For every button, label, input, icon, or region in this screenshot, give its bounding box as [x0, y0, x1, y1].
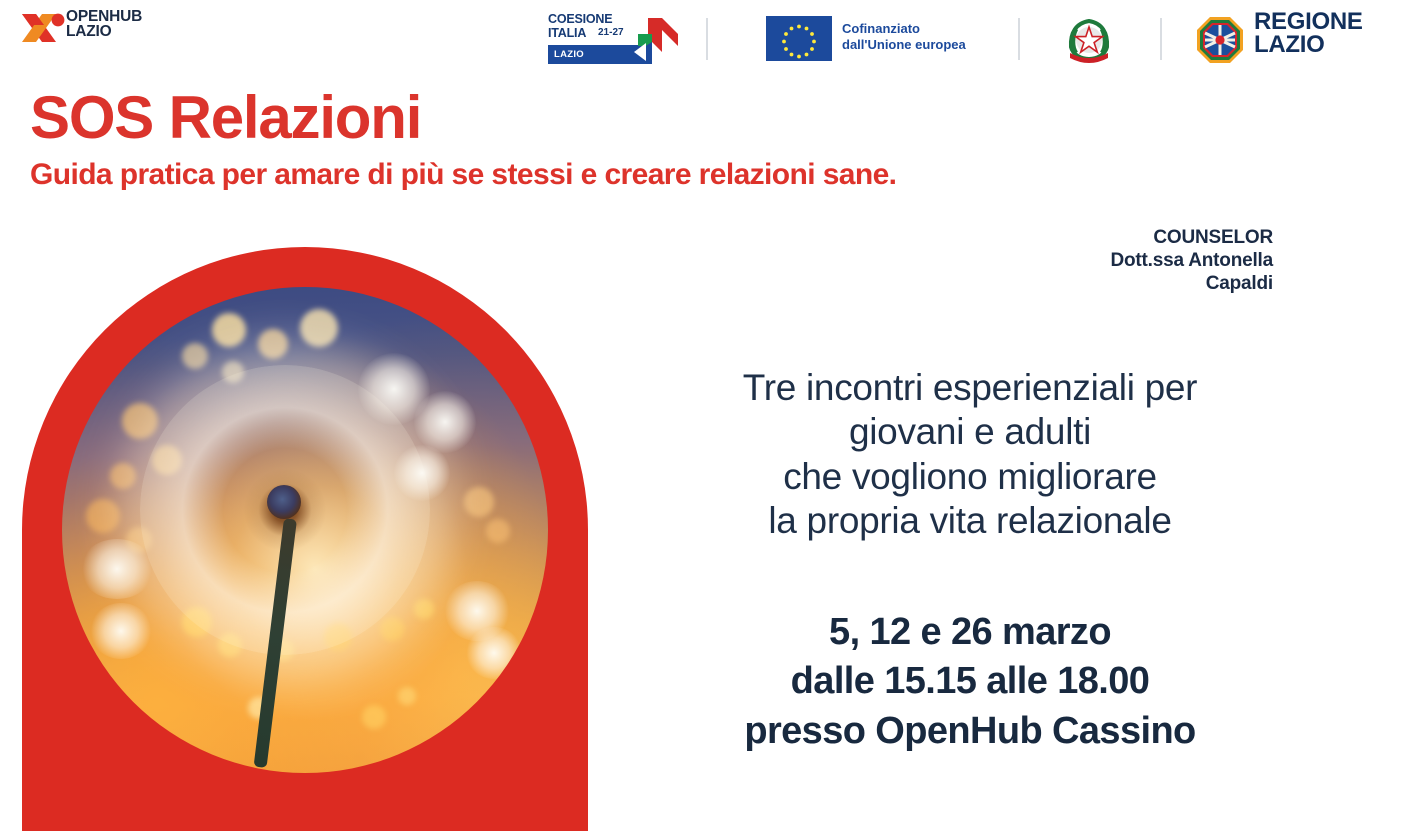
eu-cofinancing-logo: Cofinanziato dall'Unione europea — [766, 16, 981, 62]
dandelion-photo — [62, 287, 548, 773]
dandelion-artwork — [22, 247, 588, 831]
logo-divider-2 — [1018, 18, 1020, 60]
regione-lazio-line2: LAZIO — [1254, 34, 1363, 57]
page-subtitle: Guida pratica per amare di più se stessi… — [30, 158, 896, 193]
eu-flag-icon — [766, 16, 832, 61]
logo-header-bar: OPENHUB LAZIO COESIONE ITALIA 21-27 LAZI… — [0, 0, 1414, 78]
coesione-line1: COESIONE — [548, 12, 612, 26]
italy-flag-arrow-icon — [628, 12, 678, 66]
eu-logo-line1: Cofinanziato — [842, 21, 966, 37]
page-title: SOS Relazioni — [30, 88, 421, 148]
regione-lazio-logo-text: REGIONE LAZIO — [1254, 11, 1363, 57]
dandelion-core — [267, 485, 301, 519]
eu-logo-text: Cofinanziato dall'Unione europea — [842, 21, 966, 54]
body-description: Tre incontri esperienziali per giovani e… — [620, 366, 1320, 544]
coesione-line2: ITALIA — [548, 26, 586, 40]
coesione-region-label: LAZIO — [554, 49, 584, 60]
event-time: dalle 15.15 alle 18.00 — [620, 657, 1320, 706]
body-line-4: la propria vita relazionale — [620, 499, 1320, 543]
regione-lazio-octagon-icon — [1196, 16, 1244, 64]
body-line-1: Tre incontri esperienziali per — [620, 366, 1320, 410]
regione-lazio-logo: REGIONE LAZIO — [1196, 12, 1386, 68]
coesione-italia-logo: COESIONE ITALIA 21-27 LAZIO — [548, 12, 678, 66]
poster-root: OPENHUB LAZIO COESIONE ITALIA 21-27 LAZI… — [0, 0, 1414, 831]
openhub-logo-text: OPENHUB LAZIO — [66, 10, 142, 40]
eu-logo-line2: dall'Unione europea — [842, 37, 966, 53]
counselor-name-line1: Dott.ssa Antonella — [1111, 249, 1274, 272]
body-line-3: che vogliono migliorare — [620, 455, 1320, 499]
italian-republic-emblem-icon — [1060, 13, 1118, 67]
event-venue: presso OpenHub Cassino — [620, 707, 1320, 756]
counselor-block: COUNSELOR Dott.ssa Antonella Capaldi — [1111, 226, 1274, 296]
event-details: 5, 12 e 26 marzo dalle 15.15 alle 18.00 … — [620, 608, 1320, 756]
logo-divider-3 — [1160, 18, 1162, 60]
body-line-2: giovani e adulti — [620, 410, 1320, 454]
event-dates: 5, 12 e 26 marzo — [620, 608, 1320, 657]
openhub-lazio-logo: OPENHUB LAZIO — [22, 8, 162, 52]
coesione-years: 21-27 — [598, 27, 624, 38]
counselor-name-line2: Capaldi — [1111, 272, 1274, 295]
openhub-logo-line2: LAZIO — [66, 25, 142, 40]
logo-divider-1 — [706, 18, 708, 60]
counselor-role: COUNSELOR — [1111, 226, 1274, 249]
